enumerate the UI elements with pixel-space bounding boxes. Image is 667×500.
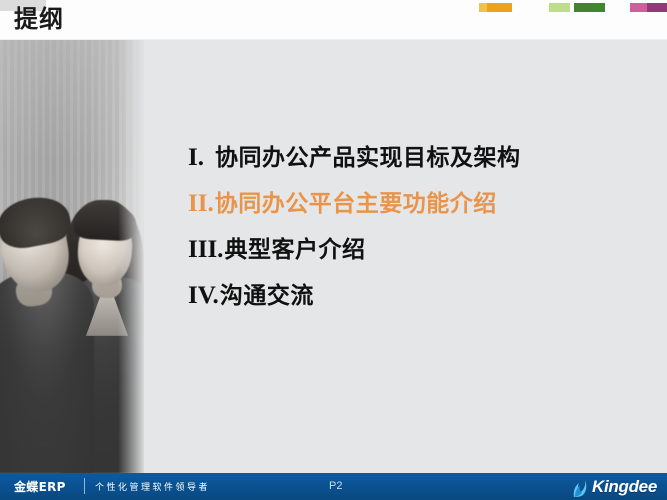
outline-item-1-numeral: I. xyxy=(188,144,204,172)
outline-item-2-numeral: II. xyxy=(188,190,214,218)
outline-item-1: I. 协同办公产品实现目标及架构 xyxy=(188,138,648,172)
footer-brand-name: 金蝶ERP xyxy=(14,478,66,495)
outline-item-2-label: 协同办公平台主要功能介绍 xyxy=(215,184,497,218)
photo-edge-fade xyxy=(118,40,144,473)
decor-block-orange-pale xyxy=(479,3,487,12)
outline-item-3: III. 典型客户介绍 xyxy=(188,230,648,264)
decor-block-purple xyxy=(647,3,667,12)
outline-item-3-label: 典型客户介绍 xyxy=(224,230,365,264)
decor-block-orange xyxy=(487,3,512,12)
outline-item-4-label: 沟通交流 xyxy=(220,276,314,310)
decor-block-green xyxy=(574,3,605,12)
slide-content-area: I. 协同办公产品实现目标及架构 II. 协同办公平台主要功能介绍 III. 典… xyxy=(144,40,667,473)
outline-item-1-label: 协同办公产品实现目标及架构 xyxy=(215,138,521,172)
kingdee-logo: Kingdee xyxy=(572,476,657,497)
outline-item-4: IV. 沟通交流 xyxy=(188,276,648,310)
kingdee-wordmark: Kingdee xyxy=(592,477,657,497)
outline-list: I. 协同办公产品实现目标及架构 II. 协同办公平台主要功能介绍 III. 典… xyxy=(188,138,648,322)
decorative-photo-people xyxy=(0,40,144,473)
slide-header: 提纲 xyxy=(0,0,667,40)
outline-item-3-numeral: III. xyxy=(188,236,223,264)
footer-tagline: 个性化管理软件领导者 xyxy=(95,480,210,493)
page-title: 提纲 xyxy=(14,3,64,35)
slide-canvas: 提纲 I. 协同办公产品实现目标及架构 II. xyxy=(0,0,667,500)
outline-item-4-numeral: IV. xyxy=(188,282,219,310)
page-number: P2 xyxy=(329,480,342,492)
footer-divider xyxy=(84,478,85,494)
kingdee-wave-icon xyxy=(572,477,588,497)
decor-block-pink xyxy=(630,3,647,12)
slide-footer: 金蝶ERP 个性化管理软件领导者 P2 Kingdee xyxy=(0,473,667,500)
outline-item-2: II. 协同办公平台主要功能介绍 xyxy=(188,184,648,218)
decor-block-green-pale xyxy=(549,3,570,12)
